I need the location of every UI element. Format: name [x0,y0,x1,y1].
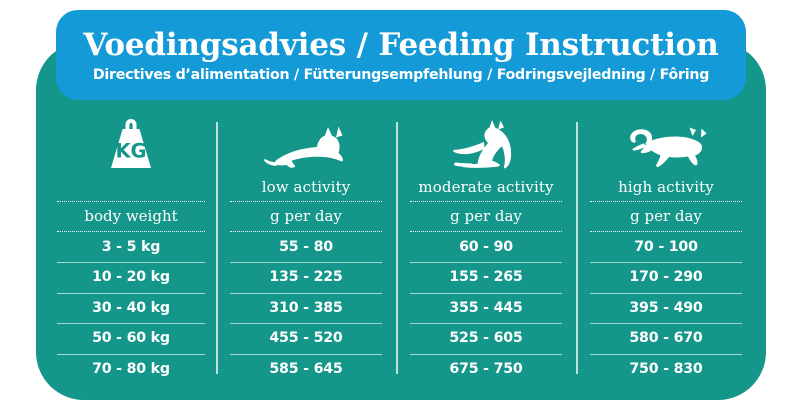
table-row: 355 - 445 [410,293,562,323]
table-row: 50 - 60 kg [57,323,205,353]
card-header: Voedingsadvies / Feeding Instruction Dir… [56,10,746,100]
table-row: 580 - 670 [590,323,742,353]
table-row: 310 - 385 [230,293,382,323]
dog-sitting-icon [396,112,576,174]
dotted-divider-bottom [230,231,382,232]
kg-weight-icon: KG [46,112,216,174]
feeding-table: KG body weight 3 - 5 kg 10 - 20 kg 30 - … [46,112,756,384]
card-subtitle: Directives d’alimentation / Fütterungsem… [93,67,709,83]
dog-jumping-icon [576,112,756,174]
column-high-activity: high activity g per day 70 - 100 170 - 2… [576,112,756,384]
column-sublabel: g per day [450,203,522,230]
table-row: 155 - 265 [410,262,562,292]
card-title: Voedingsadvies / Feeding Instruction [83,29,718,62]
column-moderate-activity: moderate activity g per day 60 - 90 155 … [396,112,576,384]
svg-text:KG: KG [115,140,146,163]
table-row: 60 - 90 [410,233,562,262]
table-row: 455 - 520 [230,323,382,353]
dotted-divider-top [410,201,562,202]
table-row: 55 - 80 [230,233,382,262]
table-row: 10 - 20 kg [57,262,205,292]
column-sublabel: g per day [270,203,342,230]
dotted-divider-bottom [57,231,205,232]
dotted-divider-top [230,201,382,202]
column-sublabel: body weight [84,203,177,230]
feeding-instruction-card: Voedingsadvies / Feeding Instruction Dir… [0,0,800,415]
column-values: 70 - 100 170 - 290 395 - 490 580 - 670 7… [590,233,742,384]
column-low-activity: low activity g per day 55 - 80 135 - 225… [216,112,396,384]
dotted-divider-top [590,201,742,202]
column-values: 55 - 80 135 - 225 310 - 385 455 - 520 58… [230,233,382,384]
table-row: 585 - 645 [230,354,382,384]
table-row: 135 - 225 [230,262,382,292]
column-header-label: high activity [618,174,714,200]
dotted-divider-bottom [590,231,742,232]
table-row: 3 - 5 kg [57,233,205,262]
table-row: 525 - 605 [410,323,562,353]
column-values: 3 - 5 kg 10 - 20 kg 30 - 40 kg 50 - 60 k… [57,233,205,384]
table-row: 675 - 750 [410,354,562,384]
table-row: 70 - 80 kg [57,354,205,384]
table-row: 170 - 290 [590,262,742,292]
column-sublabel: g per day [630,203,702,230]
column-header-label: moderate activity [418,174,553,200]
table-row: 30 - 40 kg [57,293,205,323]
dog-lying-icon [216,112,396,174]
column-header-label: low activity [262,174,351,200]
column-body-weight: KG body weight 3 - 5 kg 10 - 20 kg 30 - … [46,112,216,384]
table-row: 395 - 490 [590,293,742,323]
table-row: 750 - 830 [590,354,742,384]
dotted-divider-top [57,201,205,202]
column-values: 60 - 90 155 - 265 355 - 445 525 - 605 67… [410,233,562,384]
table-row: 70 - 100 [590,233,742,262]
dotted-divider-bottom [410,231,562,232]
